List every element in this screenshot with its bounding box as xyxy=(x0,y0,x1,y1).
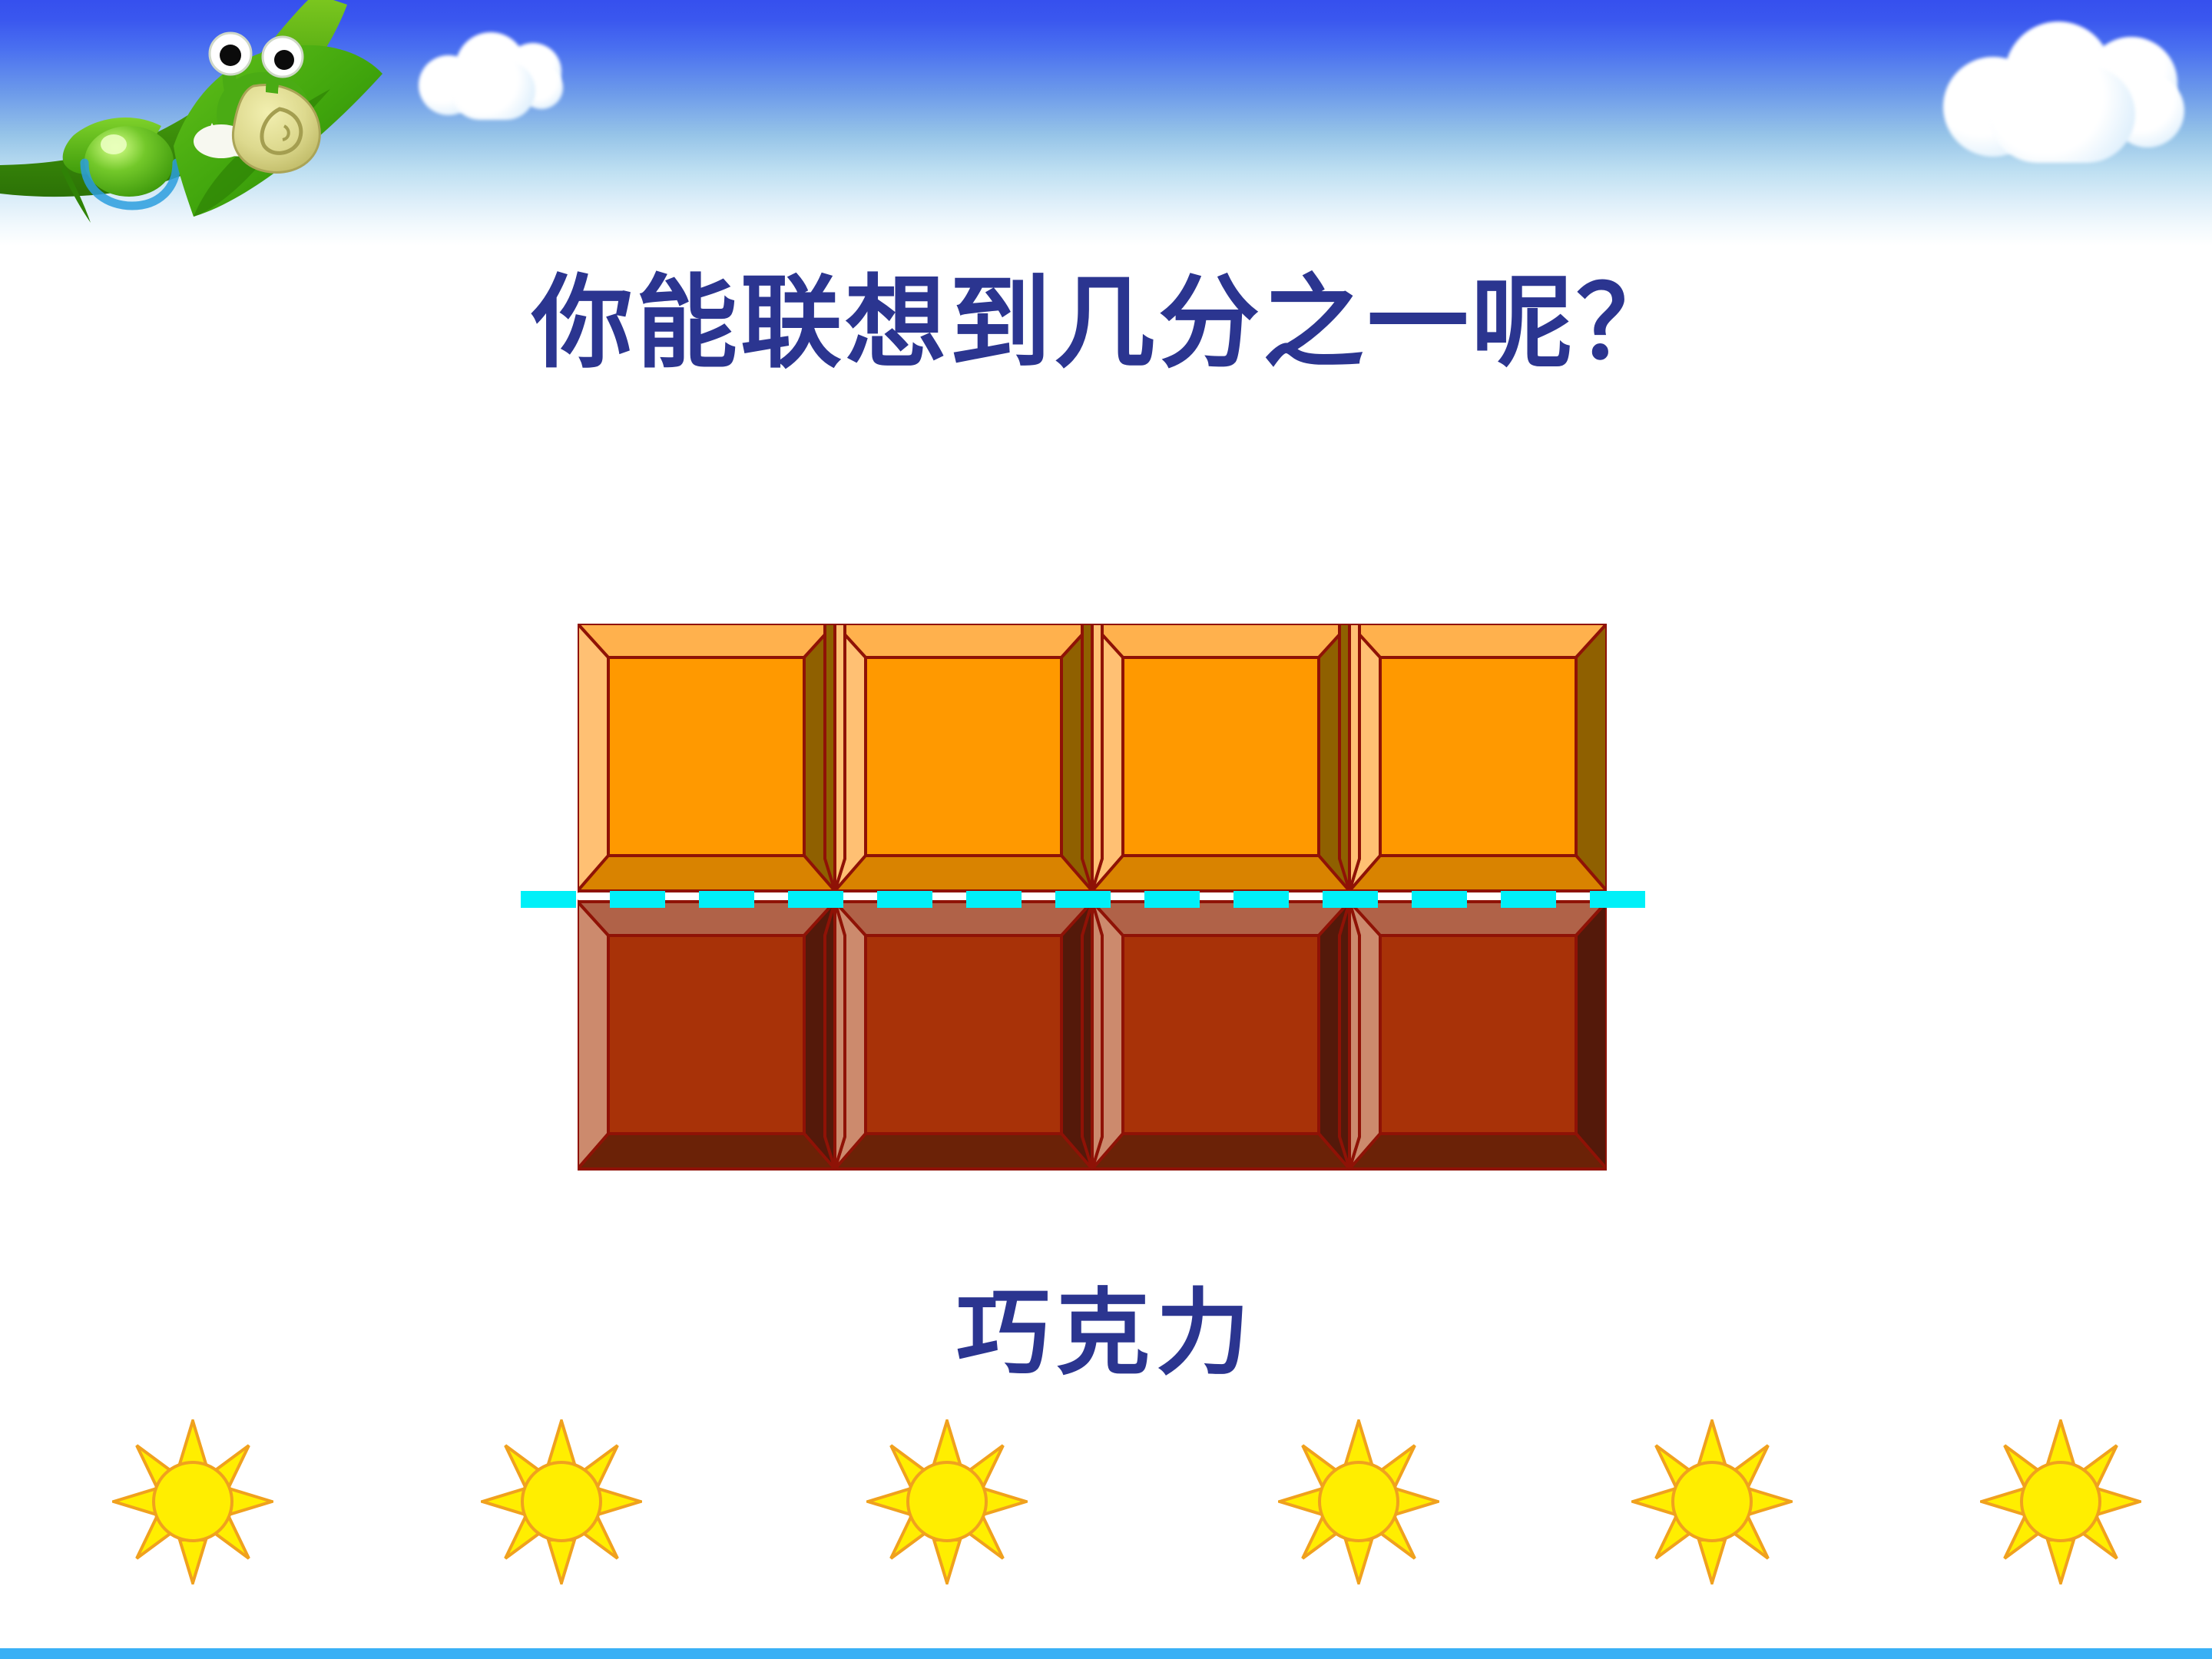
sun-icon-6 xyxy=(1980,1419,2141,1584)
cloud-large-right-icon xyxy=(1943,22,2174,164)
sun-icon-5 xyxy=(1631,1419,1793,1584)
page-title: 你能联想到几分之一呢？ xyxy=(0,270,2212,377)
slide-canvas: 你能联想到几分之一呢？ xyxy=(0,0,2212,1659)
snail-on-vine-icon xyxy=(0,0,476,253)
sun-icon-3 xyxy=(866,1419,1028,1584)
sun-icon-2 xyxy=(481,1419,642,1584)
sun-icon-4 xyxy=(1278,1419,1439,1584)
chocolate-half-cut-line xyxy=(516,891,1668,908)
chocolate-caption: 巧克力 xyxy=(0,1284,2212,1382)
bottom-accent-bar xyxy=(0,1648,2212,1659)
sun-icon-1 xyxy=(112,1419,273,1584)
